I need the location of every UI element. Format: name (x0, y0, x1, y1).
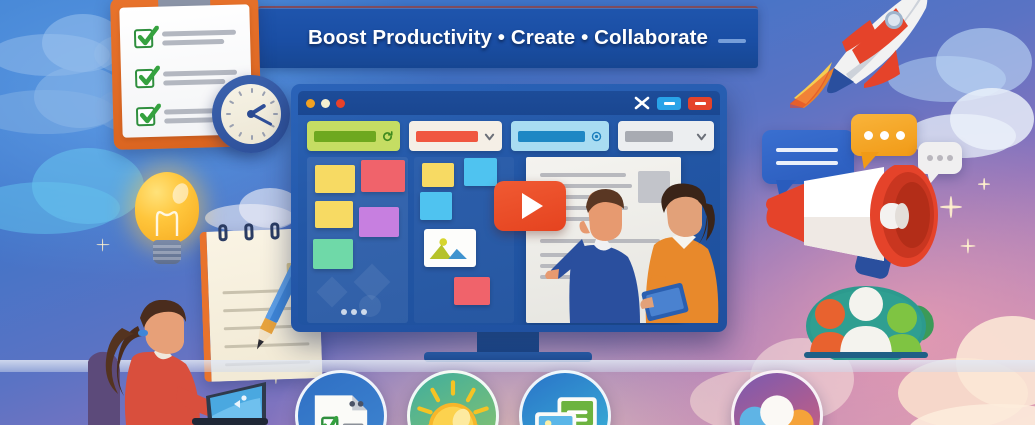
spiral-ring (218, 224, 228, 241)
bubble-dot (896, 131, 905, 140)
sticky-note[interactable] (315, 165, 355, 193)
sticky-note[interactable] (361, 160, 405, 192)
sticky-note[interactable] (454, 277, 490, 305)
minimize-button[interactable] (657, 97, 681, 110)
bulb-filament-icon (153, 206, 181, 236)
sticky-note[interactable] (422, 163, 454, 187)
headline-text: Boost Productivity • Create • Collaborat… (308, 26, 708, 50)
person-at-laptop (88, 300, 268, 425)
refresh-icon[interactable] (382, 131, 393, 142)
bubble-dot (880, 131, 889, 140)
record-circle-icon[interactable] (591, 131, 602, 142)
spiral-ring (244, 223, 254, 240)
sparkle-icon (96, 238, 109, 251)
clock-face (221, 84, 281, 144)
checkbox-checked (135, 69, 154, 88)
bulb-base (153, 240, 181, 264)
app-icon-ideas[interactable] (407, 370, 499, 425)
window-controls (634, 96, 712, 110)
close-button[interactable] (688, 97, 712, 110)
spiral-ring (270, 222, 280, 239)
desktop-monitor (291, 84, 727, 332)
document-check-icon (298, 373, 384, 425)
image-thumbnail-icon (428, 233, 472, 263)
chip-blue[interactable] (511, 121, 609, 151)
traffic-lights (306, 99, 345, 108)
app-toolbar (307, 121, 714, 151)
chip-green-bar (314, 131, 376, 142)
rocket-icon (790, 0, 930, 108)
sticky-note[interactable] (315, 201, 353, 228)
chip-cream[interactable] (409, 121, 501, 151)
check-icon (139, 104, 162, 125)
pagination-dots[interactable] (341, 309, 367, 315)
traffic-light-white[interactable] (321, 99, 330, 108)
chip-green[interactable] (307, 121, 400, 151)
checklist-text-lines (162, 29, 236, 45)
chip-cream-bar (416, 131, 477, 142)
checkbox-checked (134, 29, 153, 48)
team-group-icon (800, 278, 940, 360)
bubble-dot (864, 131, 873, 140)
window-titlebar (298, 91, 720, 115)
sticky-note[interactable] (359, 207, 399, 237)
avatars-icon (734, 373, 820, 425)
illustration-canvas: Boost Productivity • Create • Collaborat… (0, 0, 1035, 425)
checklist-item (134, 27, 236, 49)
chip-white[interactable] (618, 121, 714, 151)
traffic-light-amber[interactable] (306, 99, 315, 108)
sparkle-icon (960, 238, 975, 253)
play-triangle-icon (522, 193, 543, 219)
person-with-tablet (628, 183, 720, 323)
banner-accent-dash (718, 39, 746, 43)
media-cards-icon (522, 373, 608, 425)
chip-blue-bar (518, 131, 585, 142)
headline-banner: Boost Productivity • Create • Collaborat… (258, 6, 758, 68)
check-icon (138, 66, 161, 87)
checkbox-checked (136, 107, 155, 126)
chevron-down-icon[interactable] (484, 131, 495, 142)
megaphone-icon (762, 165, 958, 283)
shuffle-icon[interactable] (634, 96, 650, 110)
image-placeholder[interactable] (424, 229, 476, 267)
clock-center-pin (247, 110, 255, 118)
sticky-note[interactable] (420, 192, 452, 220)
idea-lightbulb (131, 172, 203, 272)
chat-bubble-orange (851, 114, 917, 156)
decor-diamond (316, 276, 347, 307)
app-icon-presentation[interactable] (519, 370, 611, 425)
check-icon (137, 26, 160, 47)
analog-clock (212, 75, 290, 153)
sticky-note[interactable] (464, 158, 497, 186)
chip-white-bar (625, 131, 673, 142)
sticky-note[interactable] (313, 239, 353, 269)
sparkle-icon (978, 178, 990, 190)
monitor-screen (298, 91, 720, 325)
app-icon-people[interactable] (731, 370, 823, 425)
chevron-down-icon[interactable] (696, 131, 707, 142)
traffic-light-red[interactable] (336, 99, 345, 108)
sun-icon (410, 373, 496, 425)
checklist-item (135, 67, 237, 89)
kanban-pane-left (307, 157, 408, 323)
monitor-stand-neck (477, 332, 539, 354)
